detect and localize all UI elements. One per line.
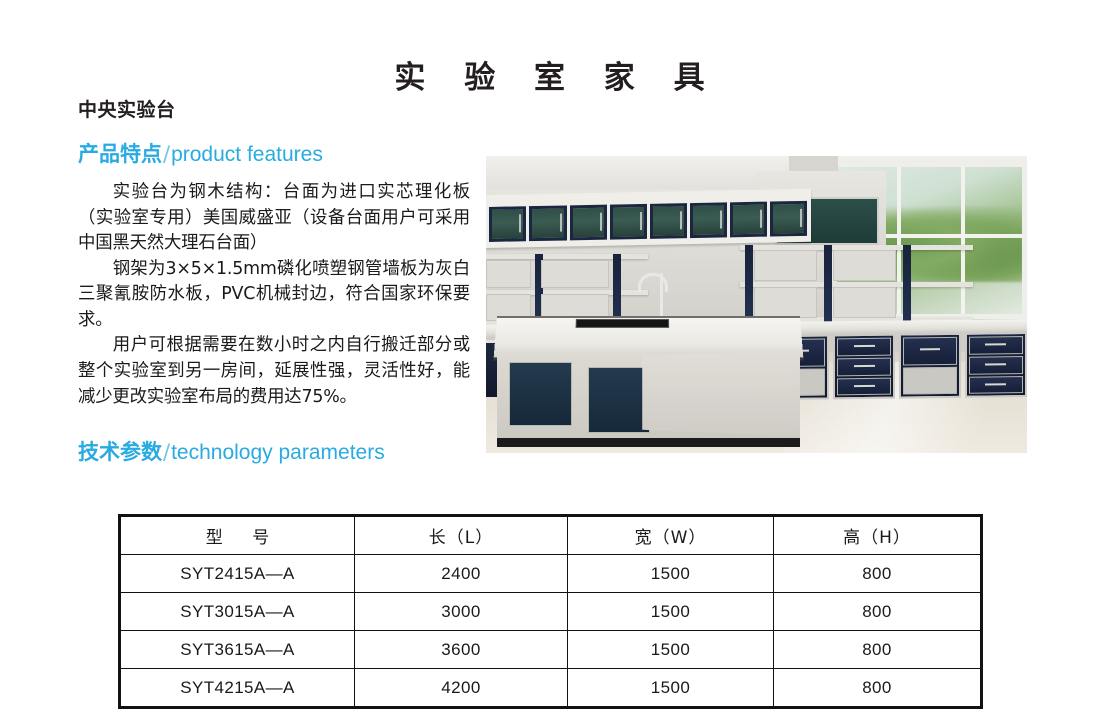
photo-shelf-upright <box>613 254 621 325</box>
photo-island-side <box>642 350 800 436</box>
parameters-heading-cn: 技术参数 <box>78 440 162 464</box>
photo-shelf-upright <box>824 245 832 322</box>
photo-cabinet-door <box>489 206 526 242</box>
photo-shelf-upright <box>903 245 911 322</box>
photo-shelf-deck <box>486 254 648 259</box>
photo-faucet <box>660 273 663 317</box>
cell-length: 4200 <box>355 669 568 708</box>
photo-shelf-panel <box>754 250 817 281</box>
page-title: 实 验 室 家 具 <box>0 52 1099 97</box>
cell-model: SYT3615A—A <box>120 631 355 669</box>
photo-cabinet-door <box>529 205 566 241</box>
photo-cabinet-door <box>730 201 767 237</box>
features-heading-en: product features <box>171 143 323 166</box>
laboratory-photo <box>486 156 1027 453</box>
photo-reagent-shelf <box>740 245 973 322</box>
photo-sink <box>575 320 668 329</box>
features-heading-cn: 产品特点 <box>78 142 162 166</box>
photo-cabinet-doors <box>489 200 807 241</box>
photo-island-plinth <box>497 438 800 447</box>
product-subtitle: 中央实验台 <box>78 95 470 122</box>
photo-shelf-upright <box>745 245 753 322</box>
cell-length: 3600 <box>355 631 568 669</box>
table-header-row: 型 号 长（L） 宽（W） 高（H） <box>120 516 982 555</box>
column-header-height: 高（H） <box>774 516 982 555</box>
cell-height: 800 <box>774 555 982 593</box>
technology-parameters-heading: 技术参数/technology parameters <box>78 436 470 466</box>
table-row: SYT4215A—A 4200 1500 800 <box>120 669 982 708</box>
photo-knee-space <box>904 367 958 395</box>
photo-island-bench <box>497 316 800 447</box>
cell-model: SYT2415A—A <box>120 555 355 593</box>
photo-cabinet-door <box>690 202 727 238</box>
product-features-heading: 产品特点/product features <box>78 138 470 168</box>
cell-height: 800 <box>774 669 982 708</box>
feature-paragraph: 实验台为钢木结构：台面为进口实芯理化板（实验室专用）美国威盛亚（设备台面用户可采… <box>78 180 470 257</box>
photo-cabinet-door <box>650 203 687 239</box>
photo-scene <box>486 156 1027 453</box>
feature-paragraph: 钢架为3×5×1.5mm磷化喷塑钢管墙板为灰白三聚氰胺防水板，PVC机械封边，符… <box>78 257 470 334</box>
cell-length: 2400 <box>355 555 568 593</box>
photo-reagent-shelf-left <box>486 254 648 325</box>
photo-base-cabinet <box>900 333 962 399</box>
parameters-heading-separator: / <box>162 440 171 464</box>
product-features-text: 实验台为钢木结构：台面为进口实芯理化板（实验室专用）美国威盛亚（设备台面用户可采… <box>78 180 470 410</box>
photo-drawer <box>838 377 892 395</box>
photo-base-cabinet <box>965 332 1027 398</box>
column-header-length: 长（L） <box>355 516 568 555</box>
photo-base-cabinet <box>834 334 896 400</box>
left-content-column: 中央实验台 产品特点/product features 实验台为钢木结构：台面为… <box>78 95 470 466</box>
cell-length: 3000 <box>355 593 568 631</box>
photo-shelf-panel <box>833 250 896 281</box>
table-row: SYT3615A—A 3600 1500 800 <box>120 631 982 669</box>
photo-drawer <box>969 336 1023 354</box>
photo-island-door <box>588 367 651 433</box>
cell-width: 1500 <box>568 669 774 708</box>
photo-cabinet-door <box>770 200 807 236</box>
photo-shelf-panel <box>833 287 896 318</box>
photo-shelf-panel <box>754 287 817 318</box>
cell-height: 800 <box>774 593 982 631</box>
specification-table: 型 号 长（L） 宽（W） 高（H） SYT2415A—A 2400 1500 … <box>118 514 983 709</box>
parameters-heading-en: technology parameters <box>171 441 385 464</box>
photo-drawer <box>838 358 892 376</box>
photo-shelf-panel <box>486 260 531 289</box>
photo-drawer <box>969 356 1023 374</box>
cell-model: SYT3015A—A <box>120 593 355 631</box>
photo-drawer <box>838 338 892 356</box>
cell-width: 1500 <box>568 555 774 593</box>
column-header-width: 宽（W） <box>568 516 774 555</box>
cell-height: 800 <box>774 631 982 669</box>
photo-island-door <box>509 362 572 426</box>
column-header-model: 型 号 <box>120 516 355 555</box>
photo-cabinet-door <box>570 204 607 240</box>
cell-model: SYT4215A—A <box>120 669 355 708</box>
table-row: SYT3015A—A 3000 1500 800 <box>120 593 982 631</box>
cell-width: 1500 <box>568 631 774 669</box>
photo-drawer <box>904 337 958 365</box>
feature-paragraph: 用户可根据需要在数小时之内自行搬迁部分或整个实验室到另一房间，延展性强，灵活性好… <box>78 333 470 410</box>
photo-shelf-panel <box>541 260 609 289</box>
photo-cabinet-door <box>610 203 647 239</box>
cell-width: 1500 <box>568 593 774 631</box>
features-heading-separator: / <box>162 142 171 166</box>
photo-drawer <box>969 376 1023 394</box>
photo-wall-cabinets <box>486 188 811 248</box>
table-row: SYT2415A—A 2400 1500 800 <box>120 555 982 593</box>
